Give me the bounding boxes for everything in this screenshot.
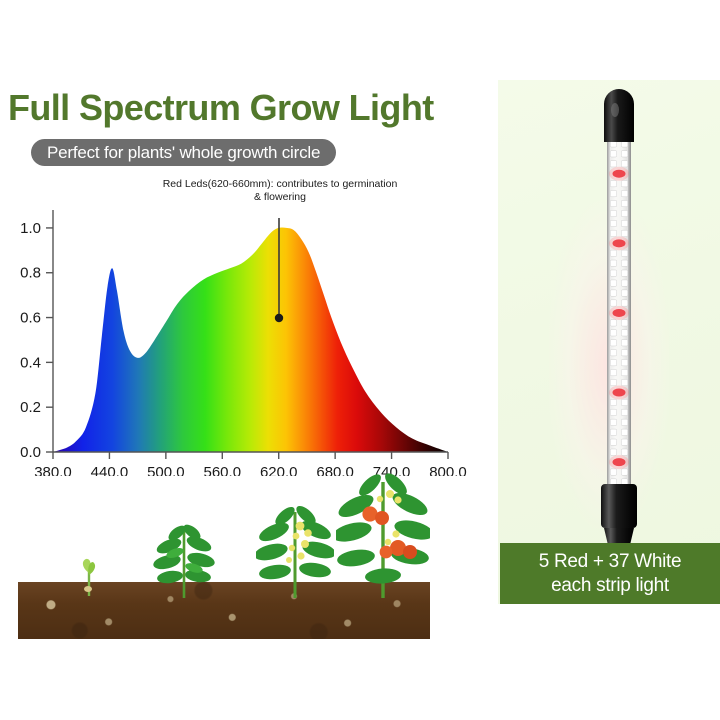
- base-connector: [601, 484, 637, 528]
- top-cap: [604, 89, 634, 142]
- caption-line-1: 5 Red + 37 White: [539, 550, 682, 574]
- spectrum-chart-svg: 0.00.20.40.60.81.0 380.0440.0500.0560.06…: [0, 176, 470, 476]
- plant-growth-illustration: [18, 487, 430, 639]
- growth-stage-flowering-plant: [256, 500, 334, 603]
- led-grow-light-strip: [498, 80, 720, 604]
- y-axis-ticks: 0.00.20.40.60.81.0: [20, 220, 53, 461]
- svg-text:0.2: 0.2: [20, 399, 41, 416]
- product-caption-box: 5 Red + 37 White each strip light: [500, 543, 720, 604]
- svg-text:0.4: 0.4: [20, 354, 41, 371]
- svg-text:560.0: 560.0: [204, 464, 242, 476]
- svg-text:380.0: 380.0: [34, 464, 72, 476]
- svg-text:0.6: 0.6: [20, 310, 41, 327]
- svg-text:0.8: 0.8: [20, 265, 41, 282]
- spectrum-area: [53, 227, 448, 452]
- spectrum-chart: Red Leds(620-660mm): contributes to germ…: [0, 176, 470, 476]
- infographic-page: Full Spectrum Grow Light Perfect for pla…: [0, 0, 720, 720]
- growth-stage-fruiting-plant: [336, 472, 430, 603]
- svg-text:0.0: 0.0: [20, 444, 41, 461]
- caption-line-2: each strip light: [551, 574, 669, 598]
- page-title: Full Spectrum Grow Light: [8, 86, 488, 130]
- left-panel: Full Spectrum Grow Light Perfect for pla…: [0, 0, 498, 720]
- subtitle-text: Perfect for plants' whole growth circle: [47, 143, 320, 163]
- annotation-dot: [275, 314, 283, 322]
- svg-text:1.0: 1.0: [20, 220, 41, 237]
- product-panel: [498, 80, 720, 604]
- subtitle-pill: Perfect for plants' whole growth circle: [31, 139, 336, 166]
- growth-stage-young-plant: [153, 520, 215, 603]
- svg-text:440.0: 440.0: [91, 464, 129, 476]
- svg-text:500.0: 500.0: [147, 464, 185, 476]
- growth-stage-seed-sprout: [71, 554, 107, 601]
- svg-text:800.0: 800.0: [429, 464, 467, 476]
- svg-text:620.0: 620.0: [260, 464, 298, 476]
